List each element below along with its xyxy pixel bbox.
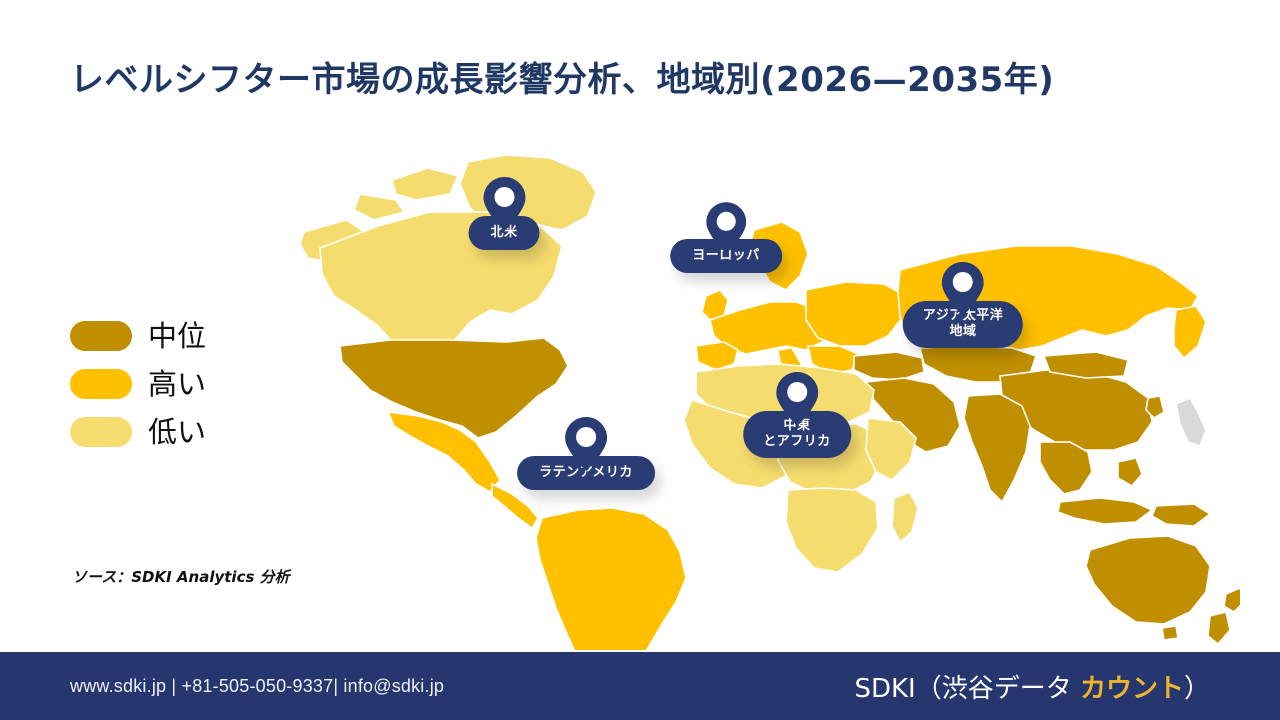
map-region-turkey bbox=[854, 352, 924, 380]
map-pin-asia-pacific[interactable]: アジア太平洋 地域 bbox=[903, 261, 1023, 348]
map-region-south-america bbox=[536, 508, 686, 650]
logo-accent: カウント bbox=[1080, 674, 1184, 704]
legend-item-medium: 中位 bbox=[70, 313, 206, 359]
map-country-japan bbox=[1176, 398, 1206, 446]
location-pin-icon bbox=[776, 371, 818, 427]
logo-prefix: SDKI（渋谷データ bbox=[854, 674, 1080, 704]
footer-contact-info[interactable]: www.sdki.jp | +81-505-050-9337| info@sdk… bbox=[70, 676, 444, 697]
map-country-tasmania bbox=[1162, 626, 1178, 640]
map-country-kamchatka bbox=[1174, 306, 1206, 358]
legend-swatch-medium bbox=[70, 321, 132, 351]
map-country-australia bbox=[1086, 536, 1210, 624]
footer-bar: www.sdki.jp | +81-505-050-9337| info@sdk… bbox=[0, 652, 1280, 720]
map-country-canada-arctic2 bbox=[354, 194, 404, 220]
slide-root: レベルシフター市場の成長影響分析、地域別(2026—2035年) 中位 高い 低… bbox=[0, 0, 1280, 720]
map-pin-europe[interactable]: ヨーロッパ bbox=[670, 201, 782, 273]
map-country-papua bbox=[1152, 504, 1210, 526]
map-country-philippines bbox=[1118, 458, 1142, 486]
map-region-eastern-europe bbox=[806, 282, 906, 346]
legend-item-low: 低い bbox=[70, 409, 206, 455]
source-note: ソース：SDKI Analytics 分析 bbox=[72, 566, 290, 587]
map-country-new-zealand bbox=[1224, 588, 1240, 612]
location-pin-icon bbox=[942, 261, 984, 317]
map-country-central-america bbox=[492, 484, 538, 528]
legend-label-high: 高い bbox=[148, 370, 206, 399]
map-country-madagascar bbox=[892, 492, 918, 542]
legend-swatch-high bbox=[70, 369, 132, 399]
legend-label-medium: 中位 bbox=[148, 322, 206, 351]
map-country-india bbox=[964, 394, 1030, 502]
map-pin-north-america[interactable]: 北米 bbox=[468, 176, 539, 250]
logo-suffix: ） bbox=[1184, 674, 1210, 704]
location-pin-icon bbox=[483, 176, 525, 232]
legend-swatch-low bbox=[70, 417, 132, 447]
map-region-indonesia bbox=[1058, 498, 1152, 524]
company-logo: SDKI（渋谷データ カウント） bbox=[854, 668, 1210, 705]
map-region-southeast-asia bbox=[1040, 442, 1092, 494]
legend-label-low: 低い bbox=[148, 418, 206, 447]
legend: 中位 高い 低い bbox=[70, 313, 206, 457]
legend-item-high: 高い bbox=[70, 361, 206, 407]
pin-line: とアフリカ bbox=[763, 434, 831, 450]
pin-line: 地域 bbox=[923, 324, 1003, 340]
location-pin-icon bbox=[706, 201, 746, 255]
page-title: レベルシフター市場の成長影響分析、地域別(2026—2035年) bbox=[70, 52, 1190, 101]
map-country-canada-arctic bbox=[392, 168, 458, 200]
map-country-iberia bbox=[696, 342, 738, 370]
location-pin-icon bbox=[565, 416, 607, 472]
map-country-new-zealand-south bbox=[1208, 612, 1230, 644]
map-pin-latin-america[interactable]: ラテンアメリカ bbox=[517, 416, 655, 490]
map-region-southern-africa bbox=[786, 488, 878, 572]
map-pin-middle-east-africa[interactable]: 中東 とアフリカ bbox=[743, 371, 851, 458]
